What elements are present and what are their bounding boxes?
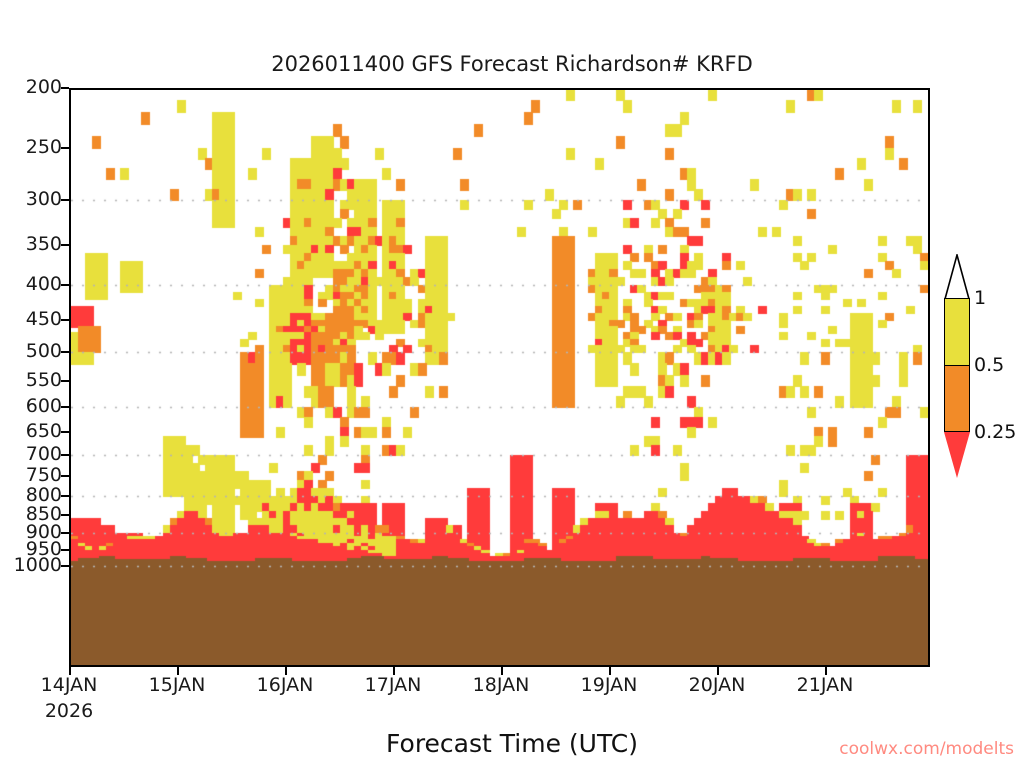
x-tick-mark-15JAN: [177, 667, 179, 675]
x-tick-mark-21JAN: [825, 667, 827, 675]
y-tick-mark-950: [61, 549, 69, 551]
plot-area: [69, 88, 930, 667]
y-tick-mark-450: [61, 319, 69, 321]
y-tick-mark-350: [61, 244, 69, 246]
y-tick-mark-900: [61, 532, 69, 534]
y-tick-mark-250: [61, 147, 69, 149]
y-tick-label-700: 700: [26, 445, 62, 464]
y-tick-label-200: 200: [26, 78, 62, 97]
x-tick-mark-14JAN: [69, 667, 71, 675]
x-tick-label-21JAN: 21JAN: [797, 674, 854, 696]
y-tick-label-500: 500: [26, 342, 62, 361]
heatmap-canvas: [71, 90, 928, 665]
colorbar-band-yellow: [944, 298, 970, 365]
colorbar-tick-0-25: 0.25: [974, 421, 1016, 443]
y-tick-mark-800: [61, 495, 69, 497]
x-tick-mark-19JAN: [609, 667, 611, 675]
y-tick-label-1000: 1000: [14, 556, 62, 575]
y-tick-mark-700: [61, 454, 69, 456]
y-tick-label-250: 250: [26, 138, 62, 157]
y-tick-label-300: 300: [26, 190, 62, 209]
x-tick-mark-16JAN: [285, 667, 287, 675]
y-tick-mark-850: [61, 514, 69, 516]
x-tick-label-17JAN: 17JAN: [365, 674, 422, 696]
x-tick-label-15JAN: 15JAN: [149, 674, 206, 696]
y-tick-label-400: 400: [26, 275, 62, 294]
y-tick-label-600: 600: [26, 397, 62, 416]
x-tick-label-20JAN: 20JAN: [689, 674, 746, 696]
chart-root: 2026011400 GFS Forecast Richardson# KRFD…: [0, 0, 1024, 768]
y-tick-label-550: 550: [26, 371, 62, 390]
x-tick-label-14JAN: 14JAN: [41, 674, 98, 696]
colorbar-legend: 10.50.25: [944, 298, 970, 432]
colorbar-tick-1: 1: [974, 287, 986, 309]
x-axis-tick-labels: 14JAN202615JAN16JAN17JAN18JAN19JAN20JAN2…: [0, 674, 1024, 734]
page-title: 2026011400 GFS Forecast Richardson# KRFD: [0, 52, 1024, 76]
x-tick-label-18JAN: 18JAN: [473, 674, 530, 696]
y-tick-label-450: 450: [26, 310, 62, 329]
x-tick-mark-17JAN: [393, 667, 395, 675]
x-axis-year-label: 2026: [45, 700, 93, 722]
footer-credit: coolwx.com/modelts: [839, 739, 1014, 759]
x-tick-label-19JAN: 19JAN: [581, 674, 638, 696]
colorbar-band-red-arrow: [944, 432, 970, 478]
x-tick-label-16JAN: 16JAN: [257, 674, 314, 696]
y-tick-mark-650: [61, 431, 69, 433]
y-tick-label-750: 750: [26, 466, 62, 485]
y-tick-mark-1000: [61, 565, 69, 567]
x-tick-mark-18JAN: [501, 667, 503, 675]
y-tick-mark-750: [61, 475, 69, 477]
y-tick-mark-200: [61, 87, 69, 89]
y-tick-mark-400: [61, 284, 69, 286]
y-tick-mark-300: [61, 199, 69, 201]
y-tick-label-350: 350: [26, 235, 62, 254]
x-tick-mark-20JAN: [717, 667, 719, 675]
y-axis-tick-labels: 2002503003504004505005506006507007508008…: [0, 0, 62, 768]
colorbar-tick-0-5: 0.5: [974, 354, 1004, 376]
y-tick-mark-500: [61, 351, 69, 353]
y-tick-label-650: 650: [26, 422, 62, 441]
y-tick-mark-600: [61, 406, 69, 408]
colorbar-band-orange: [944, 365, 970, 432]
y-tick-mark-550: [61, 380, 69, 382]
